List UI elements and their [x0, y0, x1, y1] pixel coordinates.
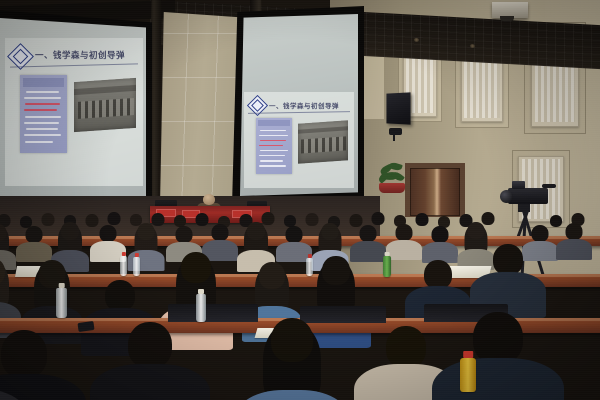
- plant-pot: [379, 183, 405, 193]
- head: [493, 244, 523, 275]
- head: [372, 212, 385, 225]
- bottle-cap: [198, 289, 204, 294]
- head: [396, 224, 413, 241]
- water-bottle: [306, 258, 313, 276]
- slide-left: 一、钱学森与初创导弹: [0, 18, 146, 208]
- slide-text-line: [260, 150, 288, 152]
- slide-right: 一、钱学森与初创导弹: [240, 14, 358, 196]
- head: [181, 252, 211, 283]
- shoulders: [350, 241, 386, 262]
- head: [128, 322, 172, 368]
- head: [322, 223, 339, 240]
- bottle-cap: [134, 253, 138, 257]
- shoulders: [236, 390, 348, 400]
- shoulders: [16, 242, 52, 262]
- head: [105, 280, 135, 311]
- slide-text-line-highlight: [24, 109, 57, 111]
- slide-text-line: [25, 141, 53, 143]
- left-projection-screen[interactable]: 一、钱学森与初创导弹: [0, 18, 146, 208]
- slide-text-line: [260, 160, 283, 162]
- head: [176, 226, 193, 243]
- head: [61, 222, 79, 240]
- head: [468, 222, 485, 239]
- head: [86, 214, 99, 227]
- ceiling-projector-lens: [500, 16, 514, 21]
- photo-roofline: [298, 126, 348, 134]
- head: [386, 326, 426, 368]
- camera-microphone: [542, 184, 556, 188]
- bottle-cap: [58, 283, 65, 288]
- head: [247, 222, 265, 240]
- head: [532, 225, 549, 242]
- slide-textbox: [256, 118, 292, 174]
- slide-text-line: [259, 135, 288, 137]
- shoulders: [90, 364, 210, 400]
- juice-bottle: [460, 358, 476, 392]
- slide-title: 一、钱学森与初创导弹: [269, 100, 339, 110]
- plant-leaf: [391, 170, 405, 183]
- head: [482, 212, 495, 225]
- head: [262, 212, 275, 225]
- slide-text-line: [24, 122, 59, 124]
- head: [432, 226, 449, 243]
- head: [138, 223, 155, 240]
- lecture-hall-photo: 一、钱学森与初创导弹 一: [0, 0, 600, 400]
- slide-text-line-highlight: [25, 103, 61, 105]
- shoulders: [556, 239, 592, 260]
- slide-text-line: [24, 134, 62, 136]
- bottle-cap: [121, 252, 125, 256]
- slide-text-line: [260, 130, 286, 132]
- head: [322, 256, 350, 285]
- slide-historic-building-photo: [298, 120, 348, 163]
- bottle-cap: [463, 351, 473, 358]
- slide-historic-building-photo: [74, 78, 136, 132]
- photo-window-row: [301, 136, 346, 153]
- photo-roofline: [74, 85, 136, 95]
- slide-title: 一、钱学森与初创导弹: [35, 49, 125, 61]
- slide-text-line: [26, 128, 58, 130]
- water-bottle: [120, 256, 127, 276]
- shoulders: [386, 240, 422, 260]
- water-bottle: [196, 294, 206, 322]
- head: [100, 225, 117, 242]
- slide-text-line: [24, 97, 62, 99]
- head: [1, 330, 47, 378]
- shoulders: [522, 241, 558, 261]
- slide-text-line: [25, 116, 62, 118]
- head: [196, 213, 209, 226]
- head: [212, 224, 229, 241]
- head: [152, 213, 165, 226]
- head: [271, 318, 313, 362]
- slide-text-line: [26, 91, 60, 93]
- right-projection-screen[interactable]: 一、钱学森与初创导弹: [240, 14, 358, 196]
- wall-mounted-speaker: [386, 92, 410, 124]
- head: [108, 212, 121, 225]
- audience-seating-area: [0, 200, 600, 400]
- head: [42, 213, 55, 226]
- slide-textbox: [20, 75, 67, 153]
- photo-window-row: [78, 98, 134, 119]
- security-camera-icon: [389, 128, 402, 135]
- water-bottle: [56, 288, 67, 318]
- slide-text-line-highlight: [259, 145, 283, 147]
- head: [259, 262, 285, 289]
- slide-textbox-heading: [23, 78, 64, 87]
- head: [416, 213, 429, 226]
- bottle-cap: [385, 252, 390, 256]
- ceiling-light: [414, 38, 419, 42]
- bottle-cap: [307, 254, 311, 258]
- head: [550, 215, 562, 227]
- slide-textbox-heading: [258, 120, 290, 126]
- head: [286, 226, 303, 243]
- head: [566, 223, 583, 240]
- seat-back: [300, 306, 386, 323]
- head: [360, 225, 377, 242]
- slide-text-line-highlight: [260, 140, 287, 142]
- head: [26, 226, 43, 243]
- seat-back: [168, 304, 258, 322]
- camera-viewfinder: [512, 181, 525, 189]
- shoulders: [432, 358, 564, 400]
- head: [306, 213, 319, 226]
- water-bottle: [133, 257, 140, 276]
- slide-text-line: [259, 165, 286, 167]
- head: [424, 260, 452, 289]
- head: [473, 312, 523, 364]
- green-tea-bottle: [383, 256, 391, 277]
- head: [350, 214, 363, 227]
- ceiling-light: [470, 44, 475, 48]
- slide-text-line: [259, 155, 285, 157]
